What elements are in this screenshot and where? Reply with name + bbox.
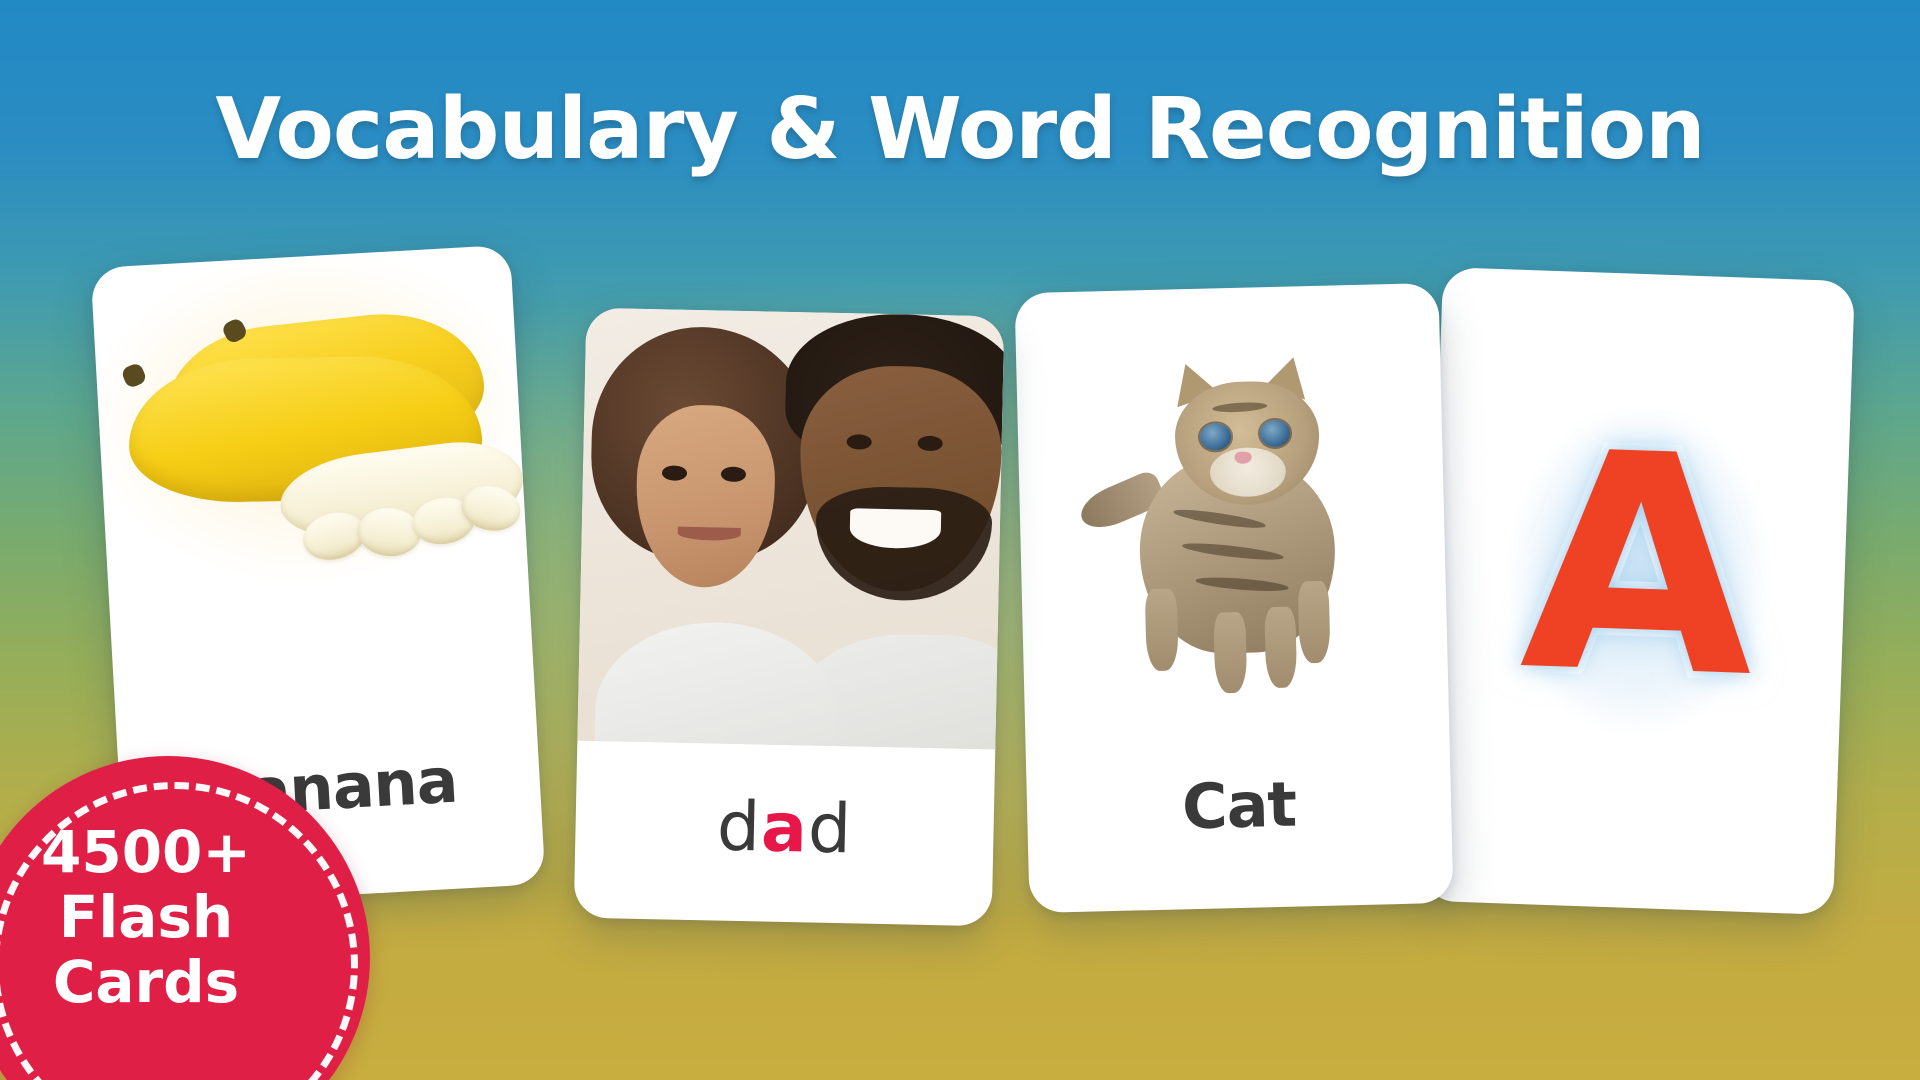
girl-eye-shape — [662, 465, 687, 480]
dad-letter-1: d — [716, 788, 762, 868]
page-title: Vocabulary & Word Recognition — [0, 85, 1920, 174]
badge-line-count: 4500+ — [12, 820, 280, 885]
banana-image — [90, 245, 535, 729]
badge-text: 4500+ Flash Cards — [12, 820, 280, 1015]
kitten-leg-shape — [1297, 581, 1331, 664]
kitten-leg-shape — [1145, 588, 1179, 671]
dad-letter-2-accent: a — [760, 788, 809, 868]
kitten-leg-shape — [1264, 606, 1298, 689]
girl-shirt-shape — [594, 620, 839, 750]
dad-letter-3: d — [807, 789, 853, 869]
girl-face-shape — [635, 404, 777, 589]
promo-banner: Vocabulary & Word Recognition Banana — [0, 0, 1920, 1080]
father-daughter-image — [577, 308, 1004, 750]
girl-eye-shape — [721, 466, 746, 481]
kitten-leg-shape — [1213, 611, 1247, 694]
badge-line-cards: Cards — [12, 950, 280, 1015]
flashcard-cat[interactable]: Cat — [1014, 283, 1453, 913]
flashcard-letter-a[interactable]: A — [1421, 267, 1855, 915]
flashcard-label-cat: Cat — [1026, 764, 1452, 847]
badge-line-flash: Flash — [12, 885, 280, 950]
flashcard-dad[interactable]: dad — [574, 308, 1005, 927]
flashcard-label-dad: dad — [575, 785, 995, 873]
kitten-image — [1015, 320, 1449, 739]
flashcard-label-letter-a: A — [1428, 409, 1850, 723]
